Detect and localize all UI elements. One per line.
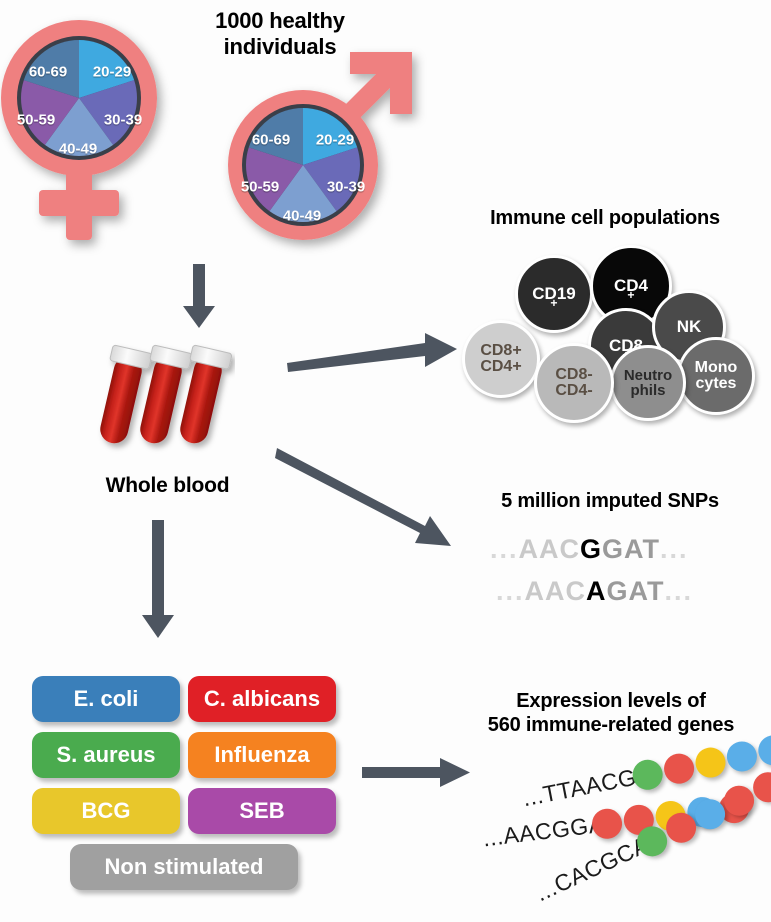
stimulation-pill-s-aureus[interactable]: S. aureus [32, 732, 180, 778]
arrow-blood-to-stimulation [138, 520, 178, 640]
immune-cell-neutrophils-line1: Neutro [624, 368, 672, 383]
gene-strand-1-bead-5 [756, 733, 771, 768]
expression-title-line1: Expression levels of [455, 690, 767, 714]
snp-row1-dots-right: ... [660, 534, 689, 564]
snp-row1-variant: G [580, 534, 602, 564]
female-pie-label-40-49: 40-49 [59, 141, 97, 158]
female-age-pie [21, 40, 137, 156]
immune-cell-cd4pos-label: CD4+ [614, 277, 648, 294]
stimulation-pill-c-albicans[interactable]: C. albicans [188, 676, 336, 722]
snp-row2-prefix: AAC [525, 576, 587, 606]
snp-row2-dots-left: ... [496, 576, 525, 606]
snp-row1-suffix: GAT [602, 534, 660, 564]
male-pie-label-60-69: 60-69 [252, 132, 290, 149]
immune-cell-cd19pos: CD19+ [515, 255, 593, 333]
stimulation-pill-bcg[interactable]: BCG [32, 788, 180, 834]
immune-cell-monocytes-line1: Mono [695, 360, 738, 376]
immune-cell-monocytes-line2: cytes [696, 376, 737, 392]
immune-cell-cd8pos-cd4pos: CD8+ CD4+ [462, 320, 540, 398]
male-pie-label-40-49: 40-49 [283, 208, 321, 225]
stimulation-pill-non-stimulated[interactable]: Non stimulated [70, 844, 298, 890]
immune-cell-cd8neg-cd4neg-line1: CD8- [555, 367, 592, 383]
snp-row2-suffix: GAT [607, 576, 665, 606]
gene-strand-1-bead-3 [693, 745, 728, 780]
female-pie-label-60-69: 60-69 [29, 64, 67, 81]
stimulation-panel: E. coli C. albicans S. aureus Influenza … [32, 676, 352, 896]
immune-section-title: Immune cell populations [450, 207, 760, 231]
snp-sequence-row-2: ...AACAGAT... [496, 576, 693, 607]
immune-cell-cd8neg-cd4neg: CD8- CD4- [534, 343, 614, 423]
expression-title-line2: 560 immune-related genes [455, 714, 767, 738]
stimulation-pill-seb[interactable]: SEB [188, 788, 336, 834]
snp-row2-variant: A [586, 576, 607, 606]
arrow-cohort-to-blood [179, 264, 219, 330]
whole-blood-label: Whole blood [80, 474, 255, 499]
genotype-section-title: 5 million imputed SNPs [460, 490, 760, 514]
male-age-pie [246, 108, 360, 222]
immune-cell-cluster: CD8+ CD4+ CD19+ CD4+ CD8+ NK Mono cytes … [462, 245, 762, 420]
snp-row1-dots-left: ... [490, 534, 519, 564]
stimulation-pill-e-coli[interactable]: E. coli [32, 676, 180, 722]
snp-row1-prefix: AAC [519, 534, 581, 564]
male-pie-label-50-59: 50-59 [241, 179, 279, 196]
male-pie-label-30-39: 30-39 [327, 179, 365, 196]
snp-sequence-block: ...AACGGAT... ...AACAGAT... [490, 530, 740, 620]
expression-section-title: Expression levels of 560 immune-related … [455, 690, 767, 737]
immune-cell-cd19pos-label: CD19+ [532, 285, 575, 302]
immune-cell-cd8neg-cd4neg-line2: CD4- [555, 383, 592, 399]
immune-cell-nk-label: NK [677, 318, 702, 335]
female-pie-label-20-29: 20-29 [93, 64, 131, 81]
female-gender-symbol: 20-29 30-39 40-49 50-59 60-69 [6, 10, 196, 245]
immune-cell-cd8pos-cd4pos-line2: CD4+ [480, 359, 521, 375]
cohort-heading-line1: 1000 healthy [170, 8, 390, 34]
female-pie-label-30-39: 30-39 [104, 112, 142, 129]
immune-cell-monocytes: Mono cytes [677, 337, 755, 415]
arrow-blood-to-immune [285, 325, 460, 380]
snp-row2-dots-right: ... [665, 576, 694, 606]
female-pie-label-50-59: 50-59 [17, 112, 55, 129]
male-pie-label-20-29: 20-29 [316, 132, 354, 149]
arrow-blood-to-snps [275, 442, 460, 552]
blood-collection-tubes-icon [95, 340, 235, 460]
immune-cell-neutrophils-line2: phils [630, 383, 665, 398]
snp-sequence-row-1: ...AACGGAT... [490, 534, 689, 565]
gene-strand-1-bead-4 [724, 739, 759, 774]
immune-cell-neutrophils: Neutro phils [610, 345, 686, 421]
male-gender-symbol: 20-29 30-39 40-49 50-59 60-69 [198, 40, 428, 252]
gene-strand-group: ...TTAACGG ...AACGGAT ...CACGCAA [455, 752, 771, 912]
gene-strand-1-bead-2 [661, 751, 696, 786]
stimulation-pill-influenza[interactable]: Influenza [188, 732, 336, 778]
immune-cell-cd8pos-cd4pos-line1: CD8+ [480, 343, 521, 359]
